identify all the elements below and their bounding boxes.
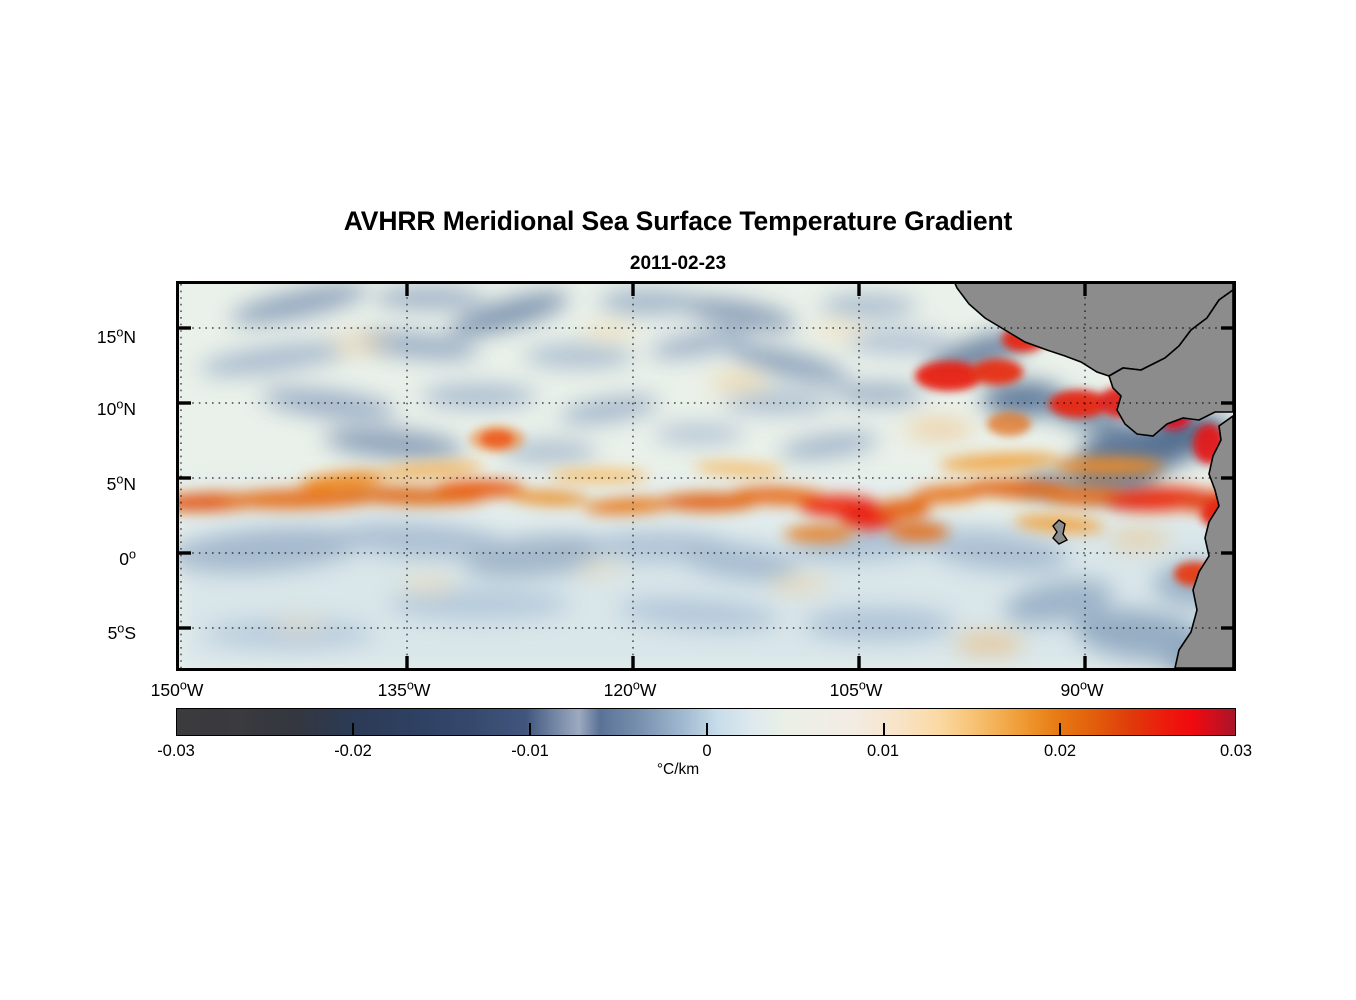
colorbar-label-002: 0.02 bbox=[1000, 742, 1120, 761]
ytick-label-5S: 5oS bbox=[16, 621, 136, 644]
colorbar-tick-2 bbox=[529, 723, 531, 736]
xtick-label-135W: 135oW bbox=[344, 678, 464, 701]
map-plot-area[interactable] bbox=[176, 281, 1236, 671]
colorbar-tick-3 bbox=[706, 723, 708, 736]
colorbar-label-001: 0.01 bbox=[823, 742, 943, 761]
xtick-label-90W: 90oW bbox=[1022, 678, 1142, 701]
colorbar-label-neg002: -0.02 bbox=[293, 742, 413, 761]
xtick-label-150W: 150oW bbox=[117, 678, 237, 701]
colorbar-label-neg001: -0.01 bbox=[470, 742, 590, 761]
ytick-label-5N: 5oN bbox=[16, 472, 136, 495]
ytick-label-15N: 15oN bbox=[16, 325, 136, 348]
colorbar-label-zero: 0 bbox=[647, 742, 767, 761]
figure-subtitle: 2011-02-23 bbox=[0, 253, 1356, 275]
ytick-label-0: 0o bbox=[16, 547, 136, 570]
ytick-label-10N: 10oN bbox=[16, 397, 136, 420]
colorbar-label-003: 0.03 bbox=[1176, 742, 1296, 761]
sst-gradient-heatmap bbox=[179, 284, 1233, 668]
figure-canvas: AVHRR Meridional Sea Surface Temperature… bbox=[0, 0, 1356, 1000]
colorbar-unit-label: °C/km bbox=[0, 761, 1356, 779]
colorbar-label-neg003: -0.03 bbox=[116, 742, 236, 761]
xtick-label-105W: 105oW bbox=[796, 678, 916, 701]
xtick-label-120W: 120oW bbox=[570, 678, 690, 701]
colorbar-tick-5 bbox=[1059, 723, 1061, 736]
colorbar-tick-1 bbox=[352, 723, 354, 736]
colorbar-tick-4 bbox=[883, 723, 885, 736]
figure-title: AVHRR Meridional Sea Surface Temperature… bbox=[0, 206, 1356, 237]
